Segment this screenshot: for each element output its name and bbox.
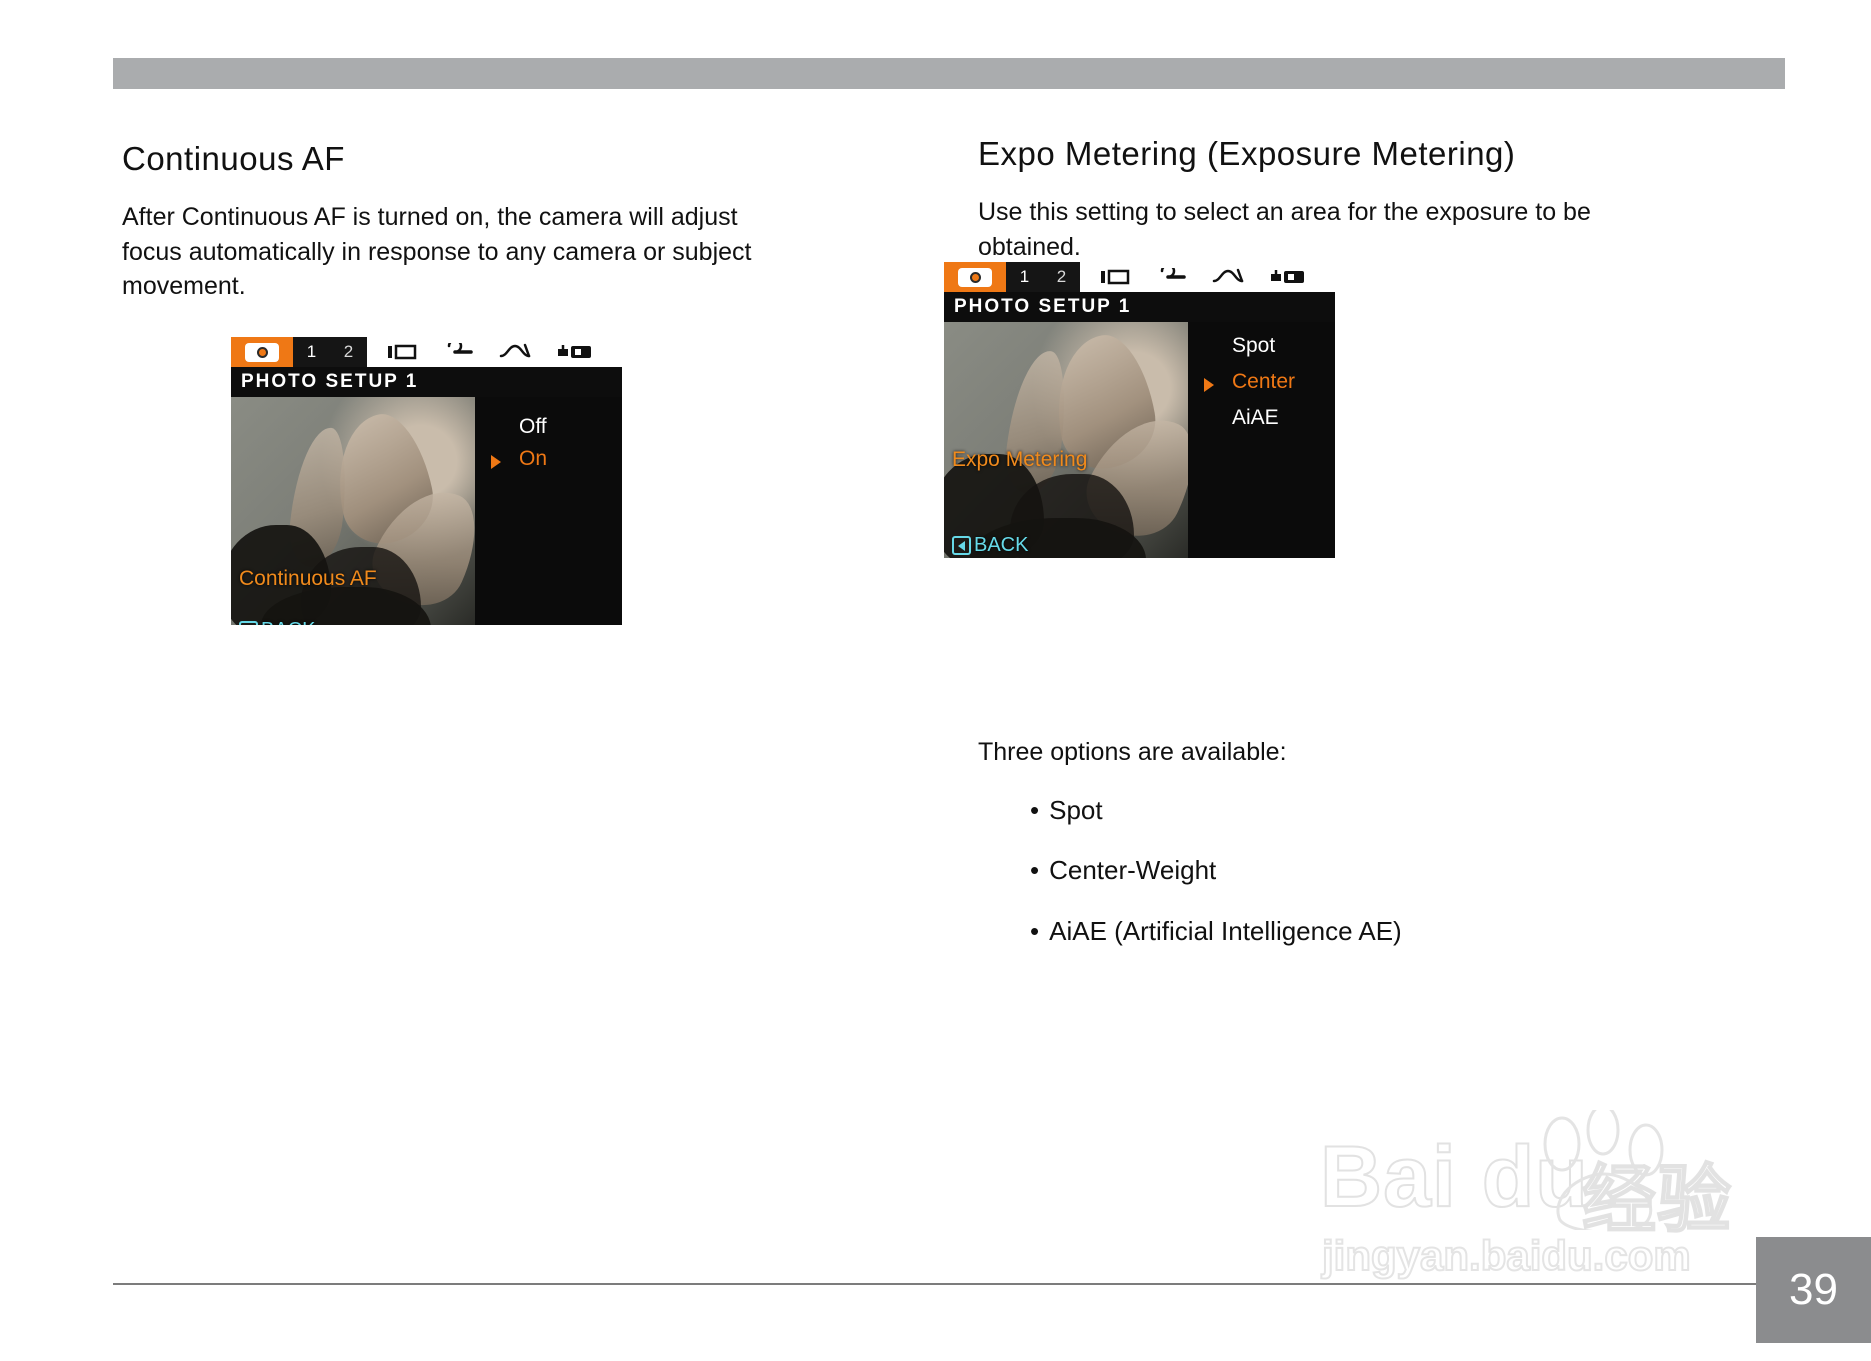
connection-icon[interactable] — [557, 343, 593, 361]
bullet-icon: • — [1030, 794, 1039, 827]
selection-arrow-icon — [1204, 378, 1214, 392]
tab-page-numbers[interactable]: 1 2 — [293, 337, 367, 367]
tab-icon-group — [1080, 262, 1335, 292]
back-button-label: BACK — [261, 619, 315, 625]
camera-option-menu: Off On — [475, 397, 622, 625]
back-button[interactable]: BACK — [239, 619, 315, 625]
camera-screenshot-expo-metering: 1 2 PHOTO SETUP 1 — [944, 262, 1335, 558]
tab-photo-setup[interactable] — [231, 337, 293, 367]
menu-option-off[interactable]: Off — [519, 415, 547, 439]
movie-setup-icon[interactable] — [1100, 268, 1130, 286]
tab-number-2[interactable]: 2 — [1057, 267, 1066, 287]
page-number: 39 — [1756, 1237, 1871, 1343]
selection-arrow-icon — [491, 455, 501, 469]
camera-menu-title: PHOTO SETUP 1 — [231, 367, 622, 397]
camera-tab-bar: 1 2 — [231, 337, 622, 367]
continuous-af-description: After Continuous AF is turned on, the ca… — [122, 200, 782, 304]
menu-option-on[interactable]: On — [519, 447, 547, 471]
menu-option-spot[interactable]: Spot — [1232, 334, 1275, 358]
menu-option-aiae[interactable]: AiAE — [1232, 406, 1279, 430]
watermark-chinese: 经验 — [1582, 1140, 1732, 1247]
list-item-label: Spot — [1049, 795, 1103, 825]
page-header-bar — [113, 58, 1785, 89]
camera-live-preview: Expo Metering BACK — [944, 322, 1188, 558]
options-bullet-list: •Spot •Center-Weight •AiAE (Artificial I… — [978, 794, 1738, 948]
camera-body: Expo Metering BACK Spot Center AiAE — [944, 322, 1335, 558]
bullet-icon: • — [1030, 854, 1039, 887]
camera-mode-icon — [958, 268, 992, 287]
menu-option-center[interactable]: Center — [1232, 370, 1295, 394]
options-intro-text: Three options are available: — [978, 735, 1738, 770]
back-button-label: BACK — [974, 534, 1028, 557]
tab-photo-setup[interactable] — [944, 262, 1006, 292]
expo-metering-description: Use this setting to select an area for t… — [978, 195, 1698, 264]
baidu-paw-icon — [1520, 1110, 1690, 1230]
page-title-continuous-af: Continuous AF — [122, 140, 782, 178]
camera-menu-title: PHOTO SETUP 1 — [944, 292, 1335, 322]
tab-number-2[interactable]: 2 — [344, 342, 353, 362]
back-button[interactable]: BACK — [952, 534, 1028, 557]
camera-live-preview: Continuous AF BACK — [231, 397, 475, 625]
tab-icon-group — [367, 337, 622, 367]
watermark-url: jingyan.baidu.com — [1322, 1232, 1691, 1280]
wrench-setup-icon[interactable] — [443, 343, 473, 361]
left-arrow-icon — [952, 536, 971, 555]
wrench-setup-icon[interactable] — [1156, 268, 1186, 286]
tab-page-numbers[interactable]: 1 2 — [1006, 262, 1080, 292]
camera-screenshot-continuous-af: 1 2 PHOTO SETUP 1 — [231, 337, 622, 625]
tab-number-1[interactable]: 1 — [1020, 267, 1029, 287]
camera-tab-bar: 1 2 — [944, 262, 1335, 292]
movie-setup-icon[interactable] — [387, 343, 417, 361]
left-column: Continuous AF After Continuous AF is tur… — [122, 140, 782, 304]
camera-setting-label: Expo Metering — [952, 448, 1087, 472]
right-column: Expo Metering (Exposure Metering) Use th… — [978, 135, 1698, 264]
camera-setting-label: Continuous AF — [239, 567, 377, 591]
tab-number-1[interactable]: 1 — [307, 342, 316, 362]
list-item-label: AiAE (Artificial Intelligence AE) — [1049, 916, 1402, 946]
list-item-label: Center-Weight — [1049, 855, 1216, 885]
watermark-wordmark: Bai du — [1320, 1128, 1589, 1227]
page-title-expo-metering: Expo Metering (Exposure Metering) — [978, 135, 1698, 173]
bullet-icon: • — [1030, 915, 1039, 948]
camera-mode-icon — [245, 343, 279, 362]
baidu-watermark: Bai du 经验 jingyan.baidu.com — [1320, 1110, 1770, 1300]
list-item: •Spot — [1030, 794, 1738, 827]
camera-body: Continuous AF BACK Off On — [231, 397, 622, 625]
left-arrow-icon — [239, 621, 258, 625]
file-settings-icon[interactable] — [499, 343, 531, 361]
camera-option-menu: Spot Center AiAE — [1188, 322, 1335, 558]
footer-divider-rule — [113, 1283, 1785, 1285]
file-settings-icon[interactable] — [1212, 268, 1244, 286]
list-item: •AiAE (Artificial Intelligence AE) — [1030, 915, 1738, 948]
options-section: Three options are available: •Spot •Cent… — [978, 735, 1738, 975]
connection-icon[interactable] — [1270, 268, 1306, 286]
list-item: •Center-Weight — [1030, 854, 1738, 887]
